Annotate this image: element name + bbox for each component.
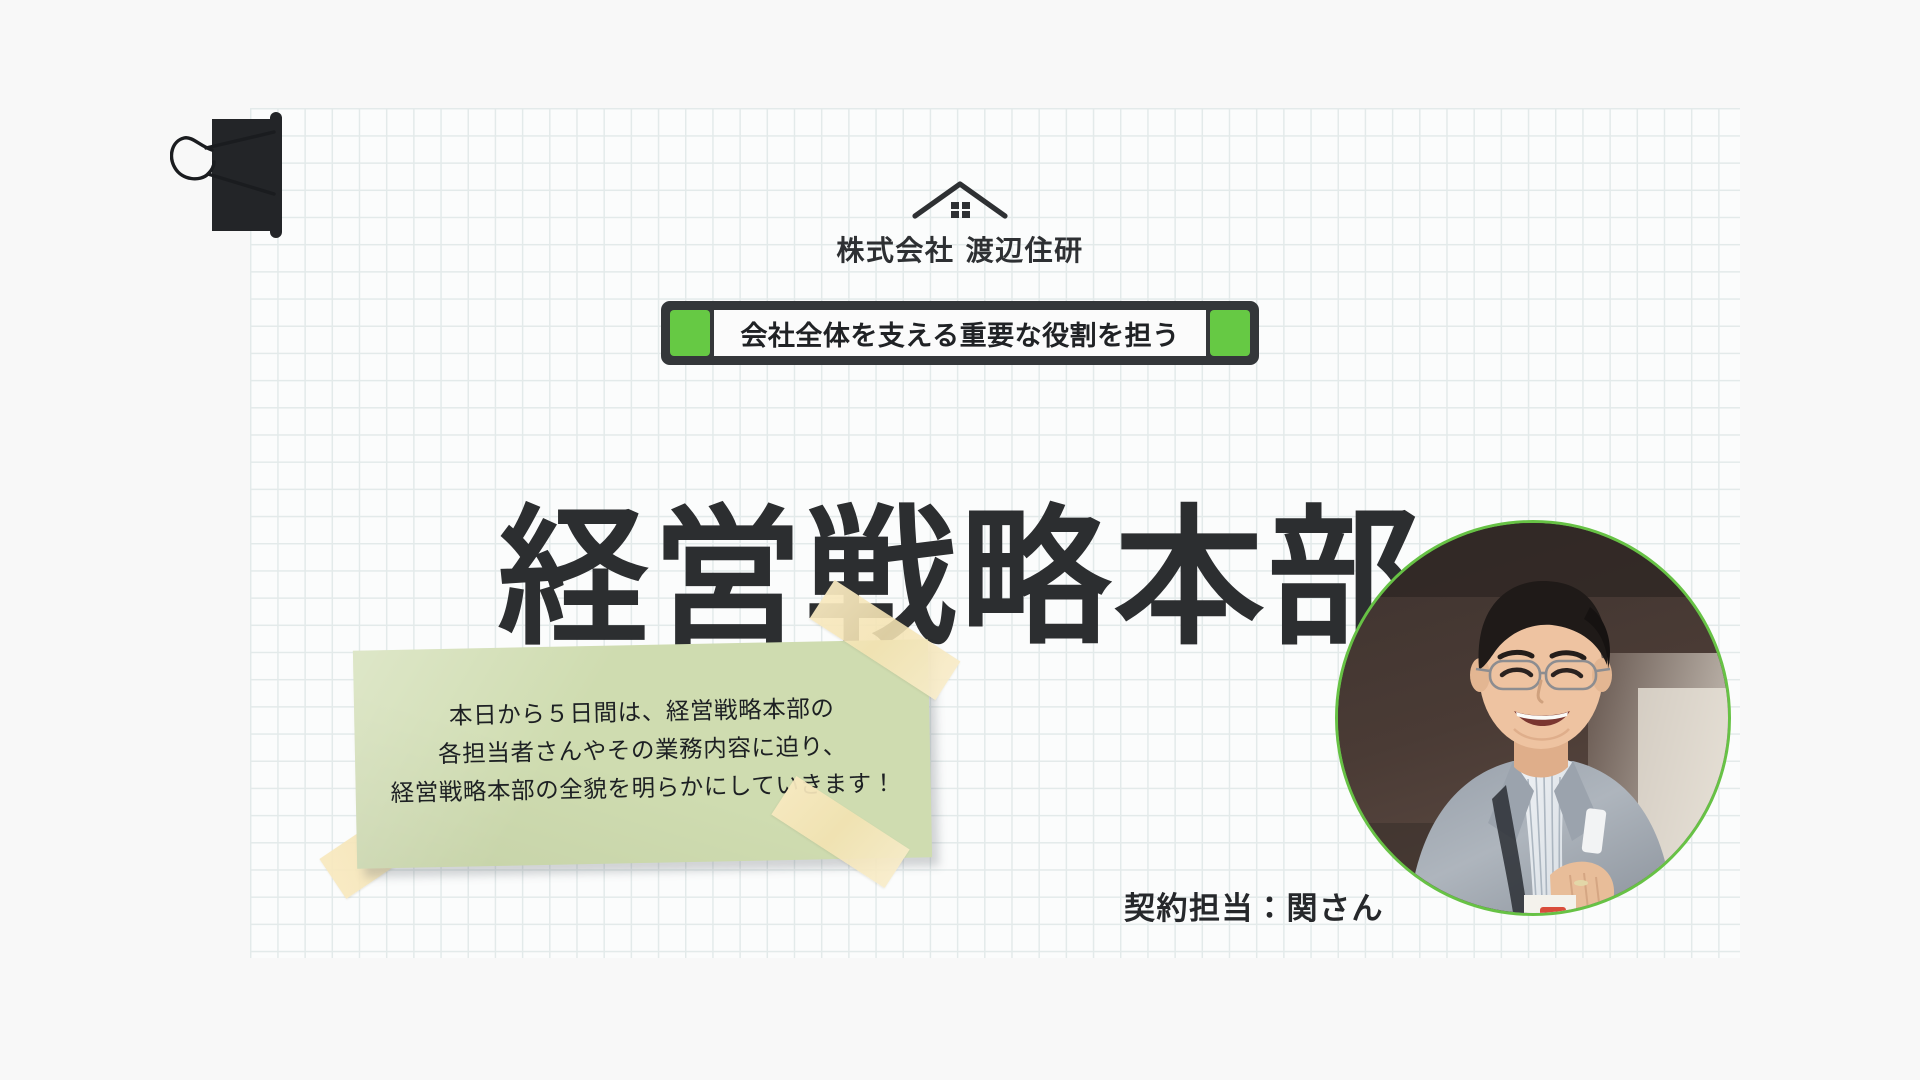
subtitle-banner: 会社全体を支える重要な役割を担う [661, 301, 1258, 365]
subtitle-banner-label: 会社全体を支える重要な役割を担う [714, 310, 1205, 356]
memo-note-text: 本日から５日間は、経営戦略本部の 各担当者さんやその業務内容に迫り、 経営戦略本… [354, 687, 931, 813]
person-portrait [1335, 520, 1731, 916]
subtitle-banner-wrapper: 会社全体を支える重要な役割を担う [0, 301, 1920, 365]
slide-canvas: 株式会社 渡辺住研 会社全体を支える重要な役割を担う 経営戦略本部 本日から５日… [0, 0, 1920, 1080]
banner-cap-left [670, 310, 710, 356]
portrait-photo [1338, 523, 1731, 916]
company-logo-block: 株式会社 渡辺住研 [0, 178, 1920, 269]
person-caption: 契約担当：関さん [1124, 883, 1384, 928]
house-roof-icon [0, 178, 1920, 225]
banner-cap-right [1210, 310, 1250, 356]
memo-note-group: 本日から５日間は、経営戦略本部の 各担当者さんやその業務内容に迫り、 経営戦略本… [355, 645, 930, 895]
company-name: 株式会社 渡辺住研 [0, 229, 1920, 269]
